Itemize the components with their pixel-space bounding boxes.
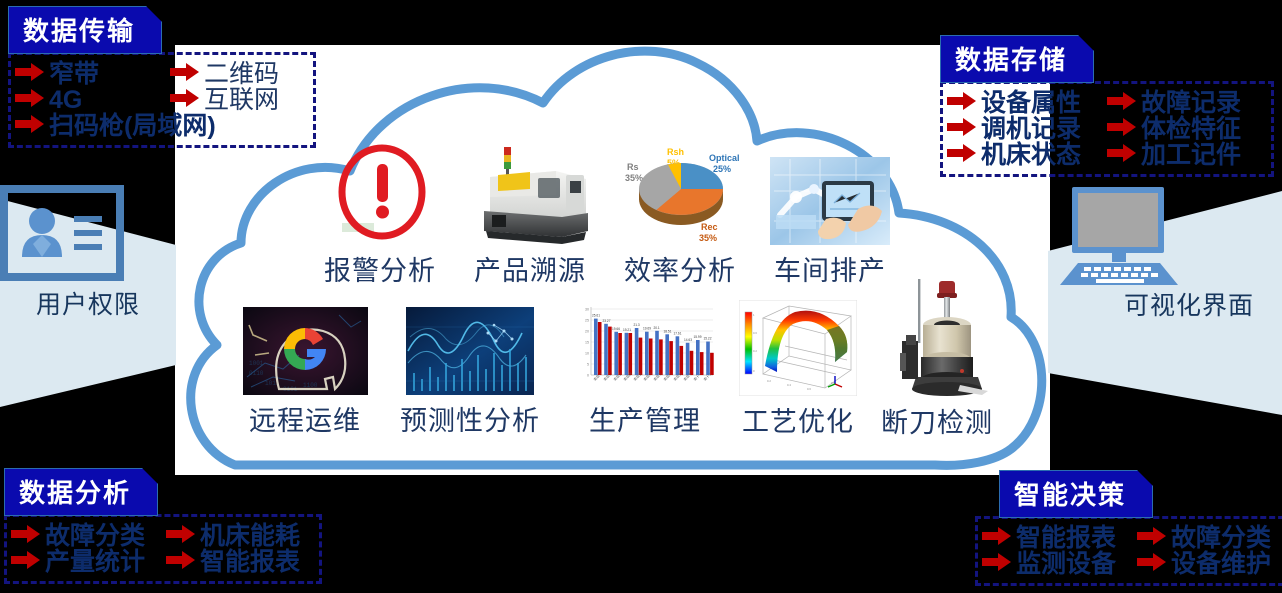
svg-text:19.66: 19.66: [612, 327, 620, 331]
corner-column-2: 二维码 互联网: [170, 61, 279, 139]
arrow-right-icon: [1107, 117, 1137, 142]
bullet-label: 设备维护: [1171, 551, 1271, 577]
svg-text:20: 20: [585, 330, 589, 334]
bullet-item[interactable]: 机床状态: [947, 142, 1107, 168]
surface-3d-plot-icon: 10.60.20 0.20.40.6 0.8: [739, 300, 857, 396]
corner-group-data-transfer: 数据传输 窄带 4G: [8, 6, 316, 148]
corner-group-data-analysis: 数据分析 故障分类 产量统计: [4, 468, 322, 584]
arrow-right-icon: [170, 88, 200, 113]
bullet-label: 设备属性: [981, 90, 1081, 116]
side-panel-label: 用户权限: [36, 285, 140, 321]
svg-text:Rec: Rec: [701, 222, 718, 232]
svg-text:0.4: 0.4: [787, 383, 791, 387]
bullet-item[interactable]: 窄带: [15, 61, 170, 87]
cloud-item-label: 生产管理: [589, 399, 701, 438]
bullet-item[interactable]: 体检特征: [1107, 116, 1241, 142]
svg-text:18.51: 18.51: [663, 329, 671, 333]
cloud-item-tool-break-detection[interactable]: 断刀检测: [867, 275, 1007, 440]
bullet-label: 调机记录: [981, 116, 1081, 142]
bullet-item[interactable]: 智能报表: [166, 549, 300, 575]
arrow-right-icon: [1137, 526, 1167, 551]
cloud-item-production-management[interactable]: 0510 152025 30: [560, 303, 730, 438]
bullet-label: 二维码: [204, 61, 279, 87]
arrow-right-icon: [947, 91, 977, 116]
cloud-item-efficiency-analysis[interactable]: Rs 35% Rsh 5% Optical 25% Rec 35%: [605, 133, 755, 288]
svg-text:19.21: 19.21: [623, 328, 631, 332]
bullet-label: 产量统计: [45, 549, 145, 575]
bullet-item[interactable]: 故障分类: [11, 523, 166, 549]
svg-text:10: 10: [585, 352, 589, 356]
corner-dash-box: 窄带 4G 扫码枪(局域网): [8, 52, 316, 148]
corner-column-2: 故障记录 体检特征 加工记件: [1107, 90, 1241, 168]
side-panel-visualization-ui[interactable]: 可视化界面: [1048, 185, 1282, 417]
ai-brain-photo: 100101101011 01011100: [243, 305, 368, 395]
svg-text:Rsh: Rsh: [667, 147, 684, 157]
bullet-label: 4G: [49, 87, 82, 113]
svg-text:1001: 1001: [249, 360, 264, 367]
svg-text:20.1: 20.1: [653, 326, 659, 330]
cloud-item-label: 断刀检测: [881, 401, 993, 440]
bullet-label: 故障分类: [1171, 525, 1271, 551]
svg-text:21.3: 21.3: [633, 323, 639, 327]
cloud-item-label: 远程运维: [249, 399, 361, 438]
corner-group-data-storage: 数据存储 设备属性 调机记录: [940, 35, 1274, 177]
arrow-right-icon: [15, 88, 45, 113]
bullet-label: 智能报表: [1016, 525, 1116, 551]
alert-exclamation-icon: [330, 140, 430, 245]
svg-text:0.6: 0.6: [753, 331, 757, 335]
arrow-right-icon: [982, 552, 1012, 577]
corner-column-1: 窄带 4G 扫码枪(局域网): [15, 61, 170, 139]
bullet-label: 体检特征: [1141, 116, 1241, 142]
svg-text:14.63: 14.63: [684, 338, 692, 342]
arrow-right-icon: [15, 114, 45, 139]
arrow-right-icon: [982, 526, 1012, 551]
arrow-right-icon: [947, 143, 977, 168]
svg-text:25: 25: [585, 319, 589, 323]
bullet-item[interactable]: 机床能耗: [166, 523, 300, 549]
cloud-item-label: 效率分析: [624, 249, 736, 288]
side-panel-label: 可视化界面: [1124, 286, 1254, 322]
diagram-canvas: 报警分析: [0, 0, 1282, 593]
bullet-label: 监测设备: [1016, 551, 1116, 577]
bullet-label: 故障记录: [1141, 90, 1241, 116]
corner-dash-box: 设备属性 调机记录 机床状态: [940, 81, 1274, 177]
bullet-item[interactable]: 设备属性: [947, 90, 1107, 116]
bullet-item[interactable]: 二维码: [170, 61, 279, 87]
bullet-item[interactable]: 互联网: [170, 87, 279, 113]
svg-text:0.2: 0.2: [767, 379, 771, 383]
cloud-item-label: 预测性分析: [400, 399, 540, 438]
corner-banner: 数据存储: [940, 35, 1094, 83]
cloud-item-predictive-analysis[interactable]: 预测性分析: [390, 305, 550, 438]
svg-text:0: 0: [587, 374, 589, 378]
corner-column-1: 智能报表 监测设备: [982, 525, 1137, 577]
svg-text:5: 5: [587, 363, 589, 367]
pie-chart-icon: Rs 35% Rsh 5% Optical 25% Rec 35%: [605, 133, 755, 245]
svg-text:0.6: 0.6: [807, 387, 811, 391]
arrow-right-icon: [947, 117, 977, 142]
bullet-item[interactable]: 调机记录: [947, 116, 1107, 142]
bullet-item[interactable]: 监测设备: [982, 551, 1137, 577]
svg-text:15.22: 15.22: [703, 337, 711, 341]
cloud-item-alarm-analysis[interactable]: 报警分析: [315, 140, 445, 288]
tablet-robot-photo: [770, 140, 890, 245]
corner-column-1: 设备属性 调机记录 机床状态: [947, 90, 1107, 168]
bullet-label: 加工记件: [1141, 142, 1241, 168]
cloud-item-label: 工艺优化: [742, 400, 854, 439]
bullet-label: 机床能耗: [200, 523, 300, 549]
corner-column-1: 故障分类 产量统计: [11, 523, 166, 575]
svg-text:35%: 35%: [699, 233, 717, 243]
data-waves-photo: [406, 305, 534, 395]
bullet-item[interactable]: 4G: [15, 87, 170, 113]
svg-text:25%: 25%: [713, 164, 731, 174]
arrow-right-icon: [1107, 143, 1137, 168]
corner-banner: 数据分析: [4, 468, 158, 516]
tool-break-sensor-photo: [882, 275, 992, 397]
side-panel-user-permission[interactable]: 用户权限: [0, 185, 176, 415]
svg-text:0110: 0110: [249, 370, 264, 377]
cloud-item-workshop-scheduling[interactable]: 车间排产: [755, 140, 905, 288]
cloud-item-process-optimization[interactable]: 10.60.20 0.20.40.6 0.8 工艺优化: [728, 300, 868, 439]
corner-column-2: 机床能耗 智能报表: [166, 523, 300, 575]
svg-text:0.2: 0.2: [753, 349, 757, 353]
corner-dash-box: 故障分类 产量统计 机床能耗: [4, 514, 322, 584]
svg-text:17.61: 17.61: [673, 331, 681, 335]
svg-text:25.61: 25.61: [592, 314, 600, 318]
bullet-item[interactable]: 故障记录: [1107, 90, 1241, 116]
bullet-label: 故障分类: [45, 523, 145, 549]
arrow-right-icon: [166, 550, 196, 575]
bullet-label: 互联网: [204, 87, 279, 113]
corner-column-2: 故障分类 设备维护: [1137, 525, 1271, 577]
svg-text:30: 30: [585, 308, 589, 312]
svg-text:Optical: Optical: [709, 153, 740, 163]
corner-group-smart-decision: 智能决策 智能报表 监测设备: [975, 470, 1282, 586]
bullet-item[interactable]: 加工记件: [1107, 142, 1241, 168]
corner-dash-box: 智能报表 监测设备 故障分类: [975, 516, 1282, 586]
cnc-machine-photo: [468, 140, 593, 245]
bullet-label: 窄带: [49, 61, 99, 87]
arrow-right-icon: [11, 524, 41, 549]
arrow-right-icon: [11, 550, 41, 575]
bullet-item[interactable]: 扫码枪(局域网): [15, 113, 170, 139]
bullet-item[interactable]: 智能报表: [982, 525, 1137, 551]
corner-banner: 智能决策: [999, 470, 1153, 518]
arrow-right-icon: [170, 62, 200, 87]
arrow-right-icon: [166, 524, 196, 549]
svg-text:23.27: 23.27: [602, 319, 610, 323]
svg-text:19.69: 19.69: [643, 327, 651, 331]
svg-text:15: 15: [585, 341, 589, 345]
arrow-right-icon: [1107, 91, 1137, 116]
cloud-item-label: 报警分析: [324, 249, 436, 288]
svg-text:35%: 35%: [625, 173, 643, 183]
bullet-item[interactable]: 故障分类: [1137, 525, 1271, 551]
bar-chart-icon: 0510 152025 30: [573, 303, 718, 395]
cloud-item-label: 产品溯源: [474, 249, 586, 288]
corner-banner: 数据传输: [8, 6, 162, 54]
bullet-item[interactable]: 设备维护: [1137, 551, 1271, 577]
arrow-right-icon: [1137, 552, 1167, 577]
cloud-item-remote-om[interactable]: 100101101011 01011100: [235, 305, 375, 438]
bullet-label: 智能报表: [200, 549, 300, 575]
arrow-right-icon: [15, 62, 45, 87]
bullet-label: 机床状态: [981, 142, 1081, 168]
svg-text:15.99: 15.99: [693, 335, 701, 339]
svg-text:Rs: Rs: [627, 162, 639, 172]
bullet-item[interactable]: 产量统计: [11, 549, 166, 575]
cloud-item-product-traceability[interactable]: 产品溯源: [460, 140, 600, 288]
